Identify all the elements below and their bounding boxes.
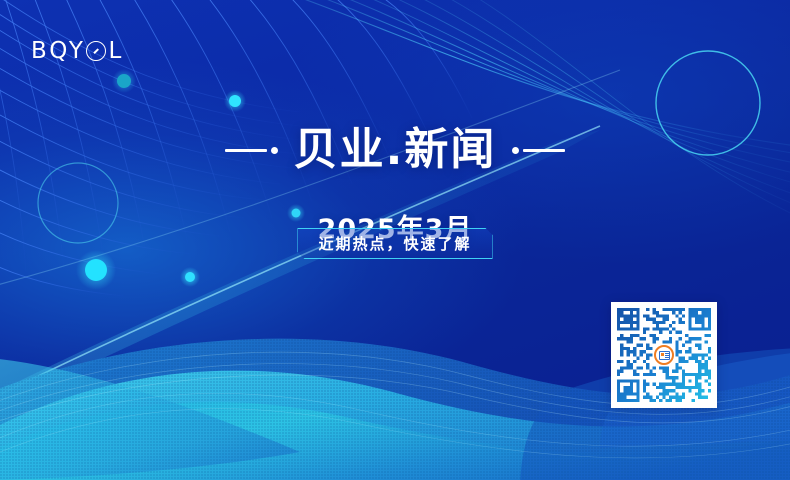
bracket-left-icon — [289, 232, 294, 255]
bracket-right-icon — [496, 232, 501, 255]
tagline-text: 近期热点，快速了解 — [318, 233, 471, 254]
qr-code[interactable] — [611, 302, 717, 408]
title-row: 贝业.新闻 — [225, 96, 566, 204]
logo-o-ring-icon — [86, 41, 106, 61]
line-dot-rule-left-icon — [225, 147, 278, 154]
page-title: 贝业.新闻 — [294, 125, 497, 174]
dot-line-rule-right-icon — [512, 147, 565, 154]
hero-title-block: 贝业.新闻 2025年3月 — [0, 96, 790, 243]
news-banner: B QY L 贝业.新闻 2025年3月 近期热点，快速了解 — [0, 0, 790, 480]
logo-letter-b: B — [31, 40, 48, 63]
logo-letter-l: L — [108, 40, 122, 63]
wechat-official-account-icon — [654, 345, 674, 365]
tagline-wrap: 近期热点，快速了解 — [0, 228, 790, 259]
brand-logo[interactable]: B QY L — [31, 38, 123, 64]
tagline-badge: 近期热点，快速了解 — [297, 228, 492, 259]
logo-letters-qy: QY — [49, 40, 84, 63]
